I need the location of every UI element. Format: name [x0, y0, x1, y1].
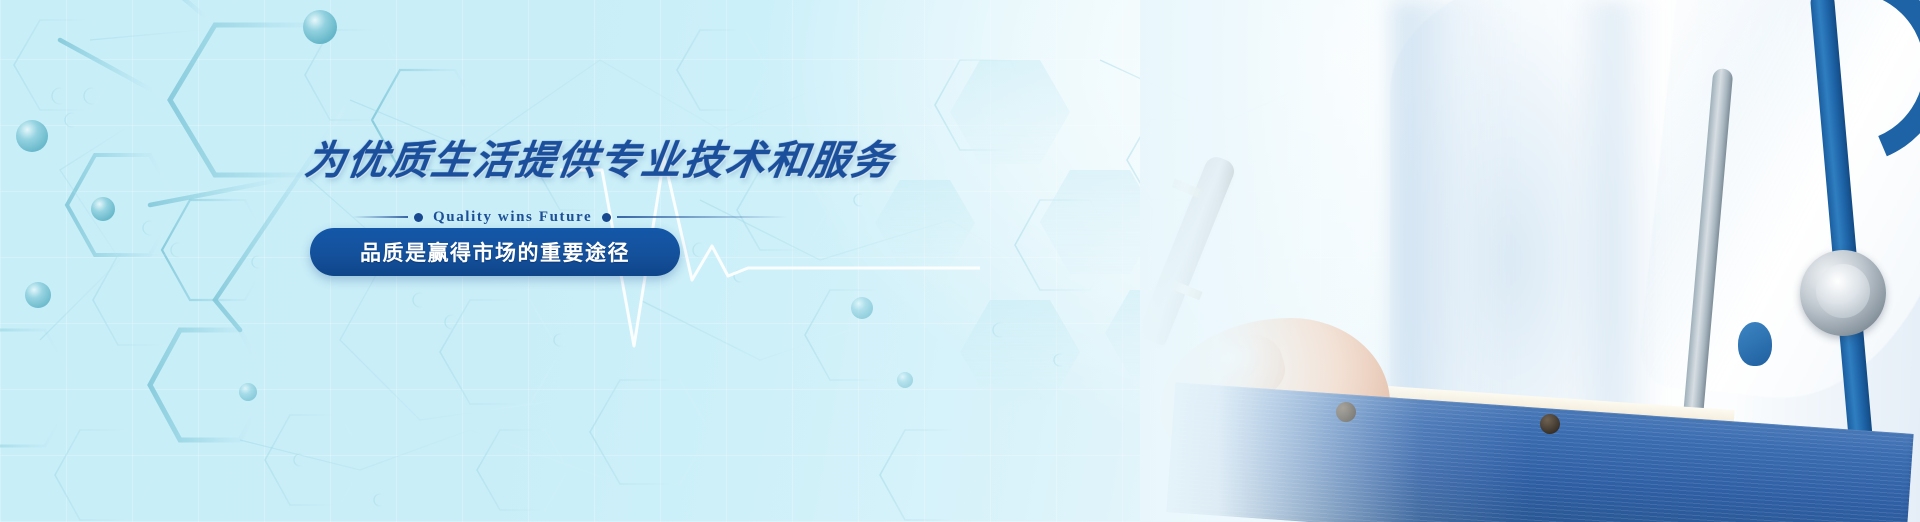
stethoscope-clip	[1738, 322, 1772, 366]
bullet-dot-icon-right	[602, 213, 611, 222]
tagline-row: Quality wins Future	[352, 205, 788, 229]
hero-banner: 为优质生活提供专业技术和服务 Quality wins Future 品质是赢得…	[0, 0, 1920, 522]
bullet-dot-icon-left	[414, 213, 423, 222]
doctor-photo	[1140, 0, 1920, 522]
tagline-text: Quality wins Future	[429, 209, 596, 226]
page-title: 为优质生活提供专业技术和服务	[302, 128, 898, 186]
tagline-rule-right	[617, 216, 788, 218]
tagline-rule-left	[352, 216, 408, 218]
cta-button[interactable]: 品质是赢得市场的重要途径	[310, 228, 680, 276]
pen	[1140, 154, 1238, 347]
cta-button-label: 品质是赢得市场的重要途径	[360, 237, 630, 267]
stethoscope-bell	[1800, 250, 1886, 336]
